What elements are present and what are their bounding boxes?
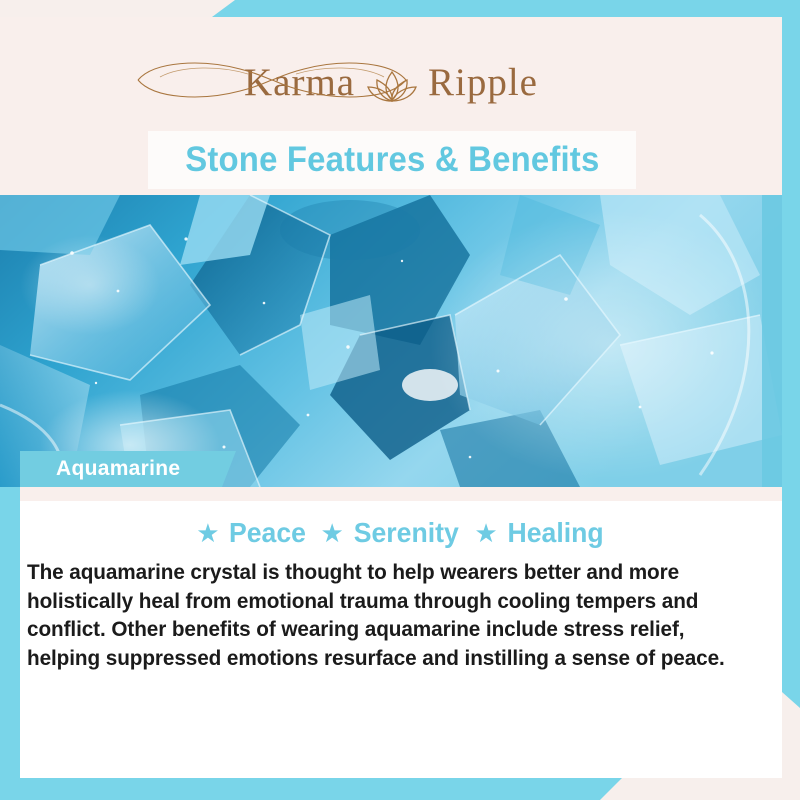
keyword-healing: Healing	[507, 517, 603, 549]
header-panel: Karma Ripple	[0, 17, 782, 125]
brand-name-left: Karma	[244, 61, 355, 104]
frame-right-accent-bar	[782, 0, 800, 692]
content-panel: ★Peace★Serenity★Healing The aquamarine c…	[20, 501, 782, 778]
keyword-peace: Peace	[229, 517, 306, 549]
infographic-card: Karma Ripple Stone Fea	[0, 0, 800, 800]
lotus-icon	[364, 60, 420, 106]
keyword-serenity: Serenity	[354, 517, 459, 549]
crystal-photo-art	[0, 195, 782, 487]
star-icon: ★	[321, 520, 344, 546]
stone-name-banner: Aquamarine	[20, 451, 236, 487]
stone-description: The aquamarine crystal is thought to hel…	[27, 558, 751, 672]
star-icon: ★	[474, 520, 497, 546]
star-icon: ★	[196, 520, 219, 546]
frame-bottom-accent-bar	[0, 778, 622, 800]
brand-logo: Karma Ripple	[0, 53, 782, 113]
crystal-photo	[0, 195, 782, 487]
content-top-spacer	[20, 487, 782, 501]
page-title-box: Stone Features & Benefits	[148, 131, 636, 189]
stone-name: Aquamarine	[20, 457, 180, 481]
keyword-list: ★Peace★Serenity★Healing	[20, 517, 782, 549]
frame-right-accent-tip	[782, 692, 800, 708]
brand-name-right: Ripple	[428, 61, 538, 104]
frame-top-accent-bar	[212, 0, 800, 17]
page-title: Stone Features & Benefits	[185, 140, 599, 180]
